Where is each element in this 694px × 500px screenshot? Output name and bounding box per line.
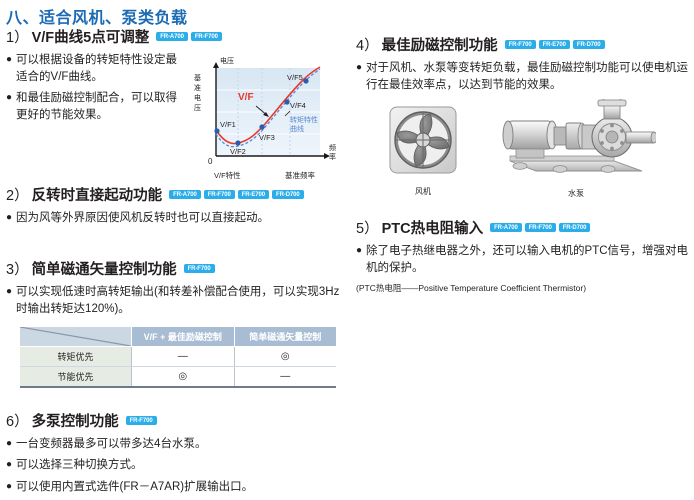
section-4-bullet-1-text: 对于风机、水泵等变转矩负载，最佳励磁控制功能可以使电机运行在最佳效率点，以达到节… — [366, 60, 692, 93]
section-4-bullet-1: ● 对于风机、水泵等变转矩负载，最佳励磁控制功能可以使电机运行在最佳效率点，以达… — [356, 60, 692, 93]
bullet-dot-icon: ● — [6, 479, 12, 496]
section-3: 3） 简单磁通矢量控制功能 FR-F700 ● 可以实现低速时高转矩输出(和转差… — [6, 258, 344, 387]
chart-ylabel-top: 电压 — [220, 56, 234, 65]
torque-curve-label-line1: 转矩特性 — [290, 115, 318, 124]
torque-curve-label-line2: 曲线 — [290, 124, 304, 133]
bullet-dot-icon: ● — [356, 60, 362, 93]
chart-xlabel-bottom-left: V/F特性 — [214, 170, 241, 180]
bullet-dot-icon: ● — [6, 436, 12, 453]
section-2-number: 2） — [6, 184, 29, 205]
pump-caption: 水泵 — [496, 188, 656, 199]
section-3-number: 3） — [6, 258, 29, 279]
device-illustrations: 风机 — [356, 103, 692, 203]
table-row: 节能优先 ◎ — — [20, 366, 336, 387]
badge-fr-d700: FR-D700 — [272, 190, 304, 199]
section-2-bullet-1-text: 因为风等外界原因使风机反转时也可以直接起动。 — [16, 210, 344, 227]
bullet-dot-icon: ● — [6, 457, 12, 474]
section-6-bullet-2-text: 可以选择三种切换方式。 — [16, 457, 344, 474]
chart-ylabel-side-1: 基 — [194, 73, 201, 82]
chart-xlabel-right-2: 率 — [329, 152, 336, 161]
section-1-number: 1） — [6, 26, 29, 47]
data-point-vf2 — [235, 140, 240, 145]
bullet-dot-icon: ● — [6, 52, 12, 85]
section-1-heading: 1） V/F曲线5点可调整 FR-A700 FR-F700 — [6, 26, 344, 47]
section-5-note: (PTC热电阻——Positive Temperature Coefficien… — [356, 283, 692, 294]
section-3-heading: 3） 简单磁通矢量控制功能 FR-F700 — [6, 258, 344, 279]
fan-illustration: 风机 — [384, 103, 462, 197]
section-6-bullet-3: ● 可以使用内置式选件(FR－A7AR)扩展输出口。 — [6, 479, 344, 496]
section-3-bullet-1: ● 可以实现低速时高转矩输出(和转差补偿配合使用，可以实现3Hz时输出转矩达12… — [6, 284, 344, 317]
y-axis-arrow-icon — [213, 62, 219, 68]
section-5-title: PTC热电阻输入 — [382, 217, 484, 238]
section-2-heading: 2） 反转时直接起动功能 FR-A700 FR-F700 FR-E700 FR-… — [6, 184, 344, 205]
section-6: 6） 多泵控制功能 FR-F700 ● 一台变频器最多可以带多达4台水泵。 ● … — [6, 410, 344, 496]
section-2-title: 反转时直接起动功能 — [32, 184, 163, 205]
vf-curve-chart: V/F1 V/F2 V/F3 V/F4 V/F5 V/F 转矩特性 曲线 电压 … — [186, 54, 338, 184]
chart-area-label-vf: V/F — [238, 92, 254, 103]
vf-chart-svg: V/F1 V/F2 V/F3 V/F4 V/F5 V/F 转矩特性 曲线 电压 … — [186, 54, 338, 184]
pump-illustration: 水泵 — [496, 99, 656, 199]
label-vf2: V/F2 — [230, 147, 246, 156]
data-point-vf5 — [303, 78, 308, 83]
section-4-heading: 4） 最佳励磁控制功能 FR-F700 FR-E700 FR-D700 — [356, 34, 692, 55]
label-vf5: V/F5 — [287, 73, 303, 82]
section-2-badges: FR-A700 FR-F700 FR-E700 FR-D700 — [169, 190, 307, 199]
bullet-dot-icon: ● — [356, 243, 362, 276]
diagonal-divider-icon — [20, 327, 131, 346]
table-cell-r2c2: — — [234, 366, 336, 387]
section-4: 4） 最佳励磁控制功能 FR-F700 FR-E700 FR-D700 ● 对于… — [356, 34, 692, 203]
table-row: 转矩优先 — ◎ — [20, 346, 336, 366]
fan-icon — [384, 103, 462, 179]
section-3-bullet-1-text: 可以实现低速时高转矩输出(和转差补偿配合使用，可以实现3Hz时输出转矩达120%… — [16, 284, 344, 317]
section-6-bullet-2: ● 可以选择三种切换方式。 — [6, 457, 344, 474]
pump-icon — [496, 99, 656, 181]
chart-xlabel-bottom-right: 基准频率 — [285, 170, 315, 180]
badge-fr-f700: FR-F700 — [525, 223, 556, 232]
comparison-table-head: V/F + 最佳励磁控制 简单磁通矢量控制 — [20, 327, 336, 347]
badge-fr-f700: FR-F700 — [126, 416, 157, 425]
data-point-vf1 — [214, 128, 219, 133]
section-3-badges: FR-F700 — [184, 264, 218, 273]
section-2-bullet-1: ● 因为风等外界原因使风机反转时也可以直接起动。 — [6, 210, 344, 227]
table-row-label-2: 节能优先 — [20, 366, 131, 387]
section-5-heading: 5） PTC热电阻输入 FR-A700 FR-F700 FR-D700 — [356, 217, 692, 238]
section-1-bullet-2: ● 和最佳励磁控制配合，可以取得更好的节能效果。 — [6, 90, 184, 123]
section-6-bullet-3-text: 可以使用内置式选件(FR－A7AR)扩展输出口。 — [16, 479, 344, 496]
badge-fr-e700: FR-E700 — [539, 40, 570, 49]
section-1-bullet-1-text: 可以根据设备的转矩特性设定最适合的V/F曲线。 — [16, 52, 184, 85]
right-column: 4） 最佳励磁控制功能 FR-F700 FR-E700 FR-D700 ● 对于… — [356, 26, 692, 298]
badge-fr-f700: FR-F700 — [184, 264, 215, 273]
badge-fr-a700: FR-A700 — [490, 223, 522, 232]
badge-fr-a700: FR-A700 — [169, 190, 201, 199]
table-cell-r1c2: ◎ — [234, 346, 336, 366]
section-5-bullet-1: ● 除了电子热继电器之外，还可以输入电机的PTC信号，增强对电机的保护。 — [356, 243, 692, 276]
table-header-row: V/F + 最佳励磁控制 简单磁通矢量控制 — [20, 327, 336, 347]
label-vf3: V/F3 — [259, 133, 275, 142]
fan-caption: 风机 — [384, 186, 462, 197]
comparison-table-body: 转矩优先 — ◎ 节能优先 ◎ — — [20, 346, 336, 387]
chart-ylabel-side-2: 准 — [194, 83, 201, 92]
bullet-dot-icon: ● — [6, 90, 12, 123]
table-col-header-2: 简单磁通矢量控制 — [234, 327, 336, 347]
section-4-title: 最佳励磁控制功能 — [382, 34, 498, 55]
chart-origin-label: 0 — [208, 157, 213, 166]
section-3-title: 简单磁通矢量控制功能 — [32, 258, 177, 279]
section-4-number: 4） — [356, 34, 379, 55]
chart-ylabel-side-4: 压 — [194, 104, 201, 112]
table-col-header-1: V/F + 最佳励磁控制 — [131, 327, 234, 347]
section-6-heading: 6） 多泵控制功能 FR-F700 — [6, 410, 344, 431]
table-row-label-1: 转矩优先 — [20, 346, 131, 366]
chart-xlabel-right-1: 频 — [329, 143, 336, 152]
label-vf1: V/F1 — [220, 120, 236, 129]
badge-fr-f700: FR-F700 — [204, 190, 235, 199]
section-5-badges: FR-A700 FR-F700 FR-D700 — [490, 223, 593, 232]
section-5: 5） PTC热电阻输入 FR-A700 FR-F700 FR-D700 ● 除了… — [356, 217, 692, 293]
badge-fr-d700: FR-D700 — [573, 40, 605, 49]
section-5-number: 5） — [356, 217, 379, 238]
label-vf4: V/F4 — [290, 101, 306, 110]
badge-fr-e700: FR-E700 — [238, 190, 269, 199]
section-1-bullet-2-text: 和最佳励磁控制配合，可以取得更好的节能效果。 — [16, 90, 184, 123]
comparison-table: V/F + 最佳励磁控制 简单磁通矢量控制 转矩优先 — ◎ 节能优先 ◎ — — [20, 327, 336, 388]
section-1-bullet-1: ● 可以根据设备的转矩特性设定最适合的V/F曲线。 — [6, 52, 184, 85]
badge-fr-f700: FR-F700 — [505, 40, 536, 49]
section-4-badges: FR-F700 FR-E700 FR-D700 — [505, 40, 608, 49]
section-2: 2） 反转时直接起动功能 FR-A700 FR-F700 FR-E700 FR-… — [6, 184, 344, 227]
badge-fr-f700: FR-F700 — [191, 32, 222, 41]
table-cell-r2c1: ◎ — [131, 366, 234, 387]
badge-fr-d700: FR-D700 — [559, 223, 591, 232]
section-1-badges: FR-A700 FR-F700 — [156, 32, 225, 41]
bullet-dot-icon: ● — [6, 210, 12, 227]
page-title: 八、适合风机、泵类负载 — [6, 4, 188, 28]
section-6-bullet-1-text: 一台变频器最多可以带多达4台水泵。 — [16, 436, 344, 453]
section-6-title: 多泵控制功能 — [32, 410, 119, 431]
data-point-vf4 — [284, 99, 289, 104]
bullet-dot-icon: ● — [6, 284, 12, 317]
section-5-bullet-1-text: 除了电子热继电器之外，还可以输入电机的PTC信号，增强对电机的保护。 — [366, 243, 692, 276]
section-6-number: 6） — [6, 410, 29, 431]
data-point-vf3 — [259, 124, 264, 129]
section-1-title: V/F曲线5点可调整 — [32, 26, 150, 47]
section-6-bullet-1: ● 一台变频器最多可以带多达4台水泵。 — [6, 436, 344, 453]
badge-fr-a700: FR-A700 — [156, 32, 188, 41]
chart-ylabel-side-3: 电 — [194, 93, 201, 102]
page-root: 八、适合风机、泵类负载 1） V/F曲线5点可调整 FR-A700 FR-F70… — [0, 0, 694, 499]
table-cell-r1c1: — — [131, 346, 234, 366]
table-corner-cell — [20, 327, 131, 347]
section-6-badges: FR-F700 — [126, 416, 160, 425]
